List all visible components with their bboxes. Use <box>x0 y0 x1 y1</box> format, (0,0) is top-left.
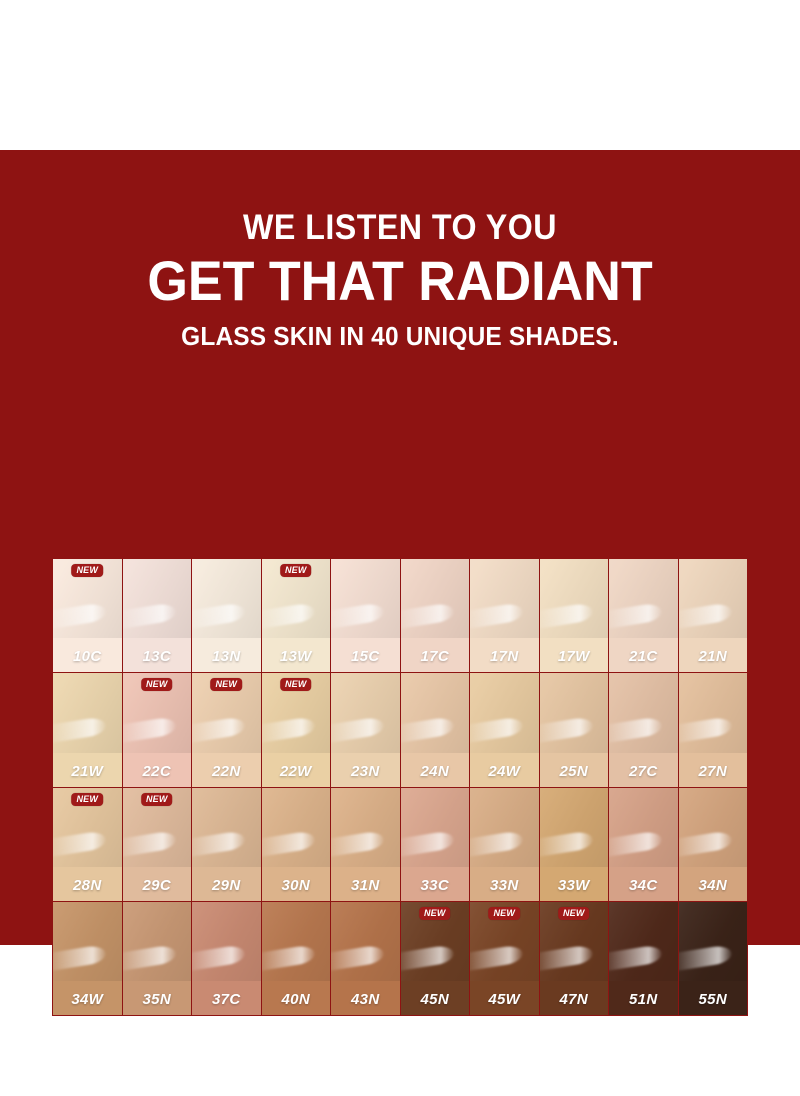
new-badge: NEW <box>488 907 520 920</box>
foundation-smear-stroke <box>53 830 107 858</box>
new-badge: NEW <box>558 907 590 920</box>
foundation-smear-stroke <box>540 944 594 972</box>
swatch-sheen-overlay <box>53 902 122 981</box>
shade-swatch-29c[interactable]: NEW29C <box>123 788 192 901</box>
shade-swatch-15c[interactable]: NEW15C <box>331 559 400 672</box>
shade-label: 21W <box>53 763 122 780</box>
foundation-smear-stroke <box>401 716 455 744</box>
shade-swatch-47n[interactable]: NEW47N <box>540 902 609 1015</box>
headline-main: GET THAT RADIANT <box>28 253 772 309</box>
foundation-smear-stroke <box>679 944 733 972</box>
shade-label: 21N <box>679 648 748 665</box>
swatch-sheen-overlay <box>679 559 748 638</box>
shade-label: 21C <box>609 648 678 665</box>
shade-label: 33N <box>470 877 539 894</box>
shade-swatch-21c[interactable]: NEW21C <box>609 559 678 672</box>
shade-label: 31N <box>331 877 400 894</box>
shade-swatch-17c[interactable]: NEW17C <box>401 559 470 672</box>
foundation-smear-stroke <box>262 944 316 972</box>
shade-label: 22C <box>123 763 192 780</box>
shade-label: 34N <box>679 877 748 894</box>
shade-swatch-31n[interactable]: NEW31N <box>331 788 400 901</box>
shade-label: 25N <box>540 763 609 780</box>
swatch-sheen-overlay <box>401 559 470 638</box>
shade-swatch-45n[interactable]: NEW45N <box>401 902 470 1015</box>
swatch-sheen-overlay <box>192 788 261 867</box>
foundation-smear-stroke <box>470 830 524 858</box>
swatch-sheen-overlay <box>262 902 331 981</box>
shade-swatch-24n[interactable]: NEW24N <box>401 673 470 786</box>
foundation-smear-stroke <box>679 716 733 744</box>
shade-swatch-40n[interactable]: NEW40N <box>262 902 331 1015</box>
shade-label: 17W <box>540 648 609 665</box>
shade-label: 22W <box>262 763 331 780</box>
shade-label: 27N <box>679 763 748 780</box>
shade-swatch-27c[interactable]: NEW27C <box>609 673 678 786</box>
shade-label: 35N <box>123 991 192 1008</box>
headline-sub: GLASS SKIN IN 40 UNIQUE SHADES. <box>24 323 776 349</box>
foundation-smear-stroke <box>401 944 455 972</box>
promo-page: WE LISTEN TO YOU GET THAT RADIANT GLASS … <box>0 0 800 1096</box>
shade-swatch-24w[interactable]: NEW24W <box>470 673 539 786</box>
swatch-sheen-overlay <box>192 902 261 981</box>
swatch-sheen-overlay <box>262 788 331 867</box>
shade-label: 10C <box>53 648 122 665</box>
shade-label: 27C <box>609 763 678 780</box>
shade-label: 29N <box>192 877 261 894</box>
swatch-sheen-overlay <box>331 902 400 981</box>
shade-label: 33W <box>540 877 609 894</box>
swatch-sheen-overlay <box>540 788 609 867</box>
shade-swatch-43n[interactable]: NEW43N <box>331 902 400 1015</box>
new-badge: NEW <box>419 907 451 920</box>
shade-label: 37C <box>192 991 261 1008</box>
swatch-sheen-overlay <box>540 559 609 638</box>
shade-label: 43N <box>331 991 400 1008</box>
swatch-sheen-overlay <box>331 673 400 752</box>
swatch-sheen-overlay <box>470 788 539 867</box>
shade-label: 13C <box>123 648 192 665</box>
swatch-sheen-overlay <box>679 788 748 867</box>
shade-label: 34C <box>609 877 678 894</box>
shade-label: 17N <box>470 648 539 665</box>
foundation-smear-stroke <box>331 944 385 972</box>
shade-swatch-30n[interactable]: NEW30N <box>262 788 331 901</box>
shade-swatch-23n[interactable]: NEW23N <box>331 673 400 786</box>
shade-swatch-34n[interactable]: NEW34N <box>679 788 748 901</box>
promo-red-panel: WE LISTEN TO YOU GET THAT RADIANT GLASS … <box>0 150 800 945</box>
swatch-sheen-overlay <box>679 673 748 752</box>
swatch-sheen-overlay <box>609 673 678 752</box>
foundation-smear-stroke <box>262 716 316 744</box>
foundation-smear-stroke <box>192 716 246 744</box>
shade-swatch-21w[interactable]: NEW21W <box>53 673 122 786</box>
shade-swatch-22w[interactable]: NEW22W <box>262 673 331 786</box>
new-badge: NEW <box>280 564 312 577</box>
swatch-sheen-overlay <box>470 559 539 638</box>
shade-label: 24W <box>470 763 539 780</box>
foundation-smear-stroke <box>262 602 316 630</box>
shade-label: 30N <box>262 877 331 894</box>
shade-swatch-22c[interactable]: NEW22C <box>123 673 192 786</box>
foundation-smear-stroke <box>470 716 524 744</box>
shade-swatch-33w[interactable]: NEW33W <box>540 788 609 901</box>
swatch-sheen-overlay <box>609 788 678 867</box>
foundation-smear-stroke <box>609 830 663 858</box>
shade-swatch-17w[interactable]: NEW17W <box>540 559 609 672</box>
shade-label: 45N <box>401 991 470 1008</box>
shade-label: 13W <box>262 648 331 665</box>
shade-swatch-55n[interactable]: NEW55N <box>679 902 748 1015</box>
swatch-sheen-overlay <box>679 902 748 981</box>
shade-label: 34W <box>53 991 122 1008</box>
headline-block: WE LISTEN TO YOU GET THAT RADIANT GLASS … <box>0 210 800 349</box>
new-badge: NEW <box>280 678 312 691</box>
shade-swatch-22n[interactable]: NEW22N <box>192 673 261 786</box>
foundation-smear-stroke <box>331 830 385 858</box>
shade-label: 22N <box>192 763 261 780</box>
shade-swatch-34c[interactable]: NEW34C <box>609 788 678 901</box>
shade-swatch-28n[interactable]: NEW28N <box>53 788 122 901</box>
swatch-sheen-overlay <box>609 559 678 638</box>
foundation-smear-stroke <box>609 944 663 972</box>
swatch-sheen-overlay <box>401 673 470 752</box>
foundation-smear-stroke <box>53 944 107 972</box>
swatch-sheen-overlay <box>123 902 192 981</box>
shade-swatch-10c[interactable]: NEW10C <box>53 559 122 672</box>
swatch-sheen-overlay <box>540 673 609 752</box>
foundation-smear-stroke <box>470 602 524 630</box>
foundation-smear-stroke <box>192 602 246 630</box>
foundation-smear-stroke <box>123 716 177 744</box>
new-badge: NEW <box>71 564 103 577</box>
shade-swatch-27n[interactable]: NEW27N <box>679 673 748 786</box>
shade-swatch-21n[interactable]: NEW21N <box>679 559 748 672</box>
shade-swatch-13w[interactable]: NEW13W <box>262 559 331 672</box>
foundation-smear-stroke <box>540 602 594 630</box>
new-badge: NEW <box>141 793 173 806</box>
foundation-smear-stroke <box>192 830 246 858</box>
shade-label: 17C <box>401 648 470 665</box>
swatch-sheen-overlay <box>331 788 400 867</box>
swatch-sheen-overlay <box>331 559 400 638</box>
shade-swatch-17n[interactable]: NEW17N <box>470 559 539 672</box>
shade-label: 33C <box>401 877 470 894</box>
shade-label: 13N <box>192 648 261 665</box>
shade-label: 47N <box>540 991 609 1008</box>
shade-swatch-34w[interactable]: NEW34W <box>53 902 122 1015</box>
foundation-smear-stroke <box>331 716 385 744</box>
new-badge: NEW <box>141 678 173 691</box>
shade-swatch-37c[interactable]: NEW37C <box>192 902 261 1015</box>
foundation-smear-stroke <box>123 830 177 858</box>
foundation-smear-stroke <box>192 944 246 972</box>
shade-swatch-33n[interactable]: NEW33N <box>470 788 539 901</box>
foundation-smear-stroke <box>540 830 594 858</box>
new-badge: NEW <box>210 678 242 691</box>
foundation-smear-stroke <box>679 602 733 630</box>
shade-label: 23N <box>331 763 400 780</box>
shade-label: 51N <box>609 991 678 1008</box>
foundation-smear-stroke <box>679 830 733 858</box>
swatch-sheen-overlay <box>470 673 539 752</box>
shade-label: 55N <box>679 991 748 1008</box>
foundation-smear-stroke <box>609 716 663 744</box>
shade-label: 15C <box>331 648 400 665</box>
shade-label: 40N <box>262 991 331 1008</box>
shade-swatch-13c[interactable]: NEW13C <box>123 559 192 672</box>
shade-swatch-51n[interactable]: NEW51N <box>609 902 678 1015</box>
swatch-sheen-overlay <box>192 559 261 638</box>
shade-swatch-25n[interactable]: NEW25N <box>540 673 609 786</box>
foundation-smear-stroke <box>331 602 385 630</box>
shade-label: 28N <box>53 877 122 894</box>
foundation-smear-stroke <box>123 602 177 630</box>
swatch-sheen-overlay <box>123 559 192 638</box>
shade-swatch-35n[interactable]: NEW35N <box>123 902 192 1015</box>
shade-grid: NEW10CNEW13CNEW13NNEW13WNEW15CNEW17CNEW1… <box>52 558 748 1016</box>
foundation-smear-stroke <box>609 602 663 630</box>
shade-label: 29C <box>123 877 192 894</box>
foundation-smear-stroke <box>262 830 316 858</box>
swatch-sheen-overlay <box>401 788 470 867</box>
headline-eyebrow: WE LISTEN TO YOU <box>32 210 768 245</box>
shade-label: 24N <box>401 763 470 780</box>
shade-swatch-13n[interactable]: NEW13N <box>192 559 261 672</box>
shade-label: 45W <box>470 991 539 1008</box>
foundation-smear-stroke <box>53 716 107 744</box>
swatch-sheen-overlay <box>53 673 122 752</box>
foundation-smear-stroke <box>53 602 107 630</box>
foundation-smear-stroke <box>470 944 524 972</box>
foundation-smear-stroke <box>123 944 177 972</box>
new-badge: NEW <box>71 793 103 806</box>
swatch-sheen-overlay <box>609 902 678 981</box>
shade-swatch-33c[interactable]: NEW33C <box>401 788 470 901</box>
foundation-smear-stroke <box>401 602 455 630</box>
foundation-smear-stroke <box>540 716 594 744</box>
shade-swatch-45w[interactable]: NEW45W <box>470 902 539 1015</box>
shade-swatch-29n[interactable]: NEW29N <box>192 788 261 901</box>
foundation-smear-stroke <box>401 830 455 858</box>
